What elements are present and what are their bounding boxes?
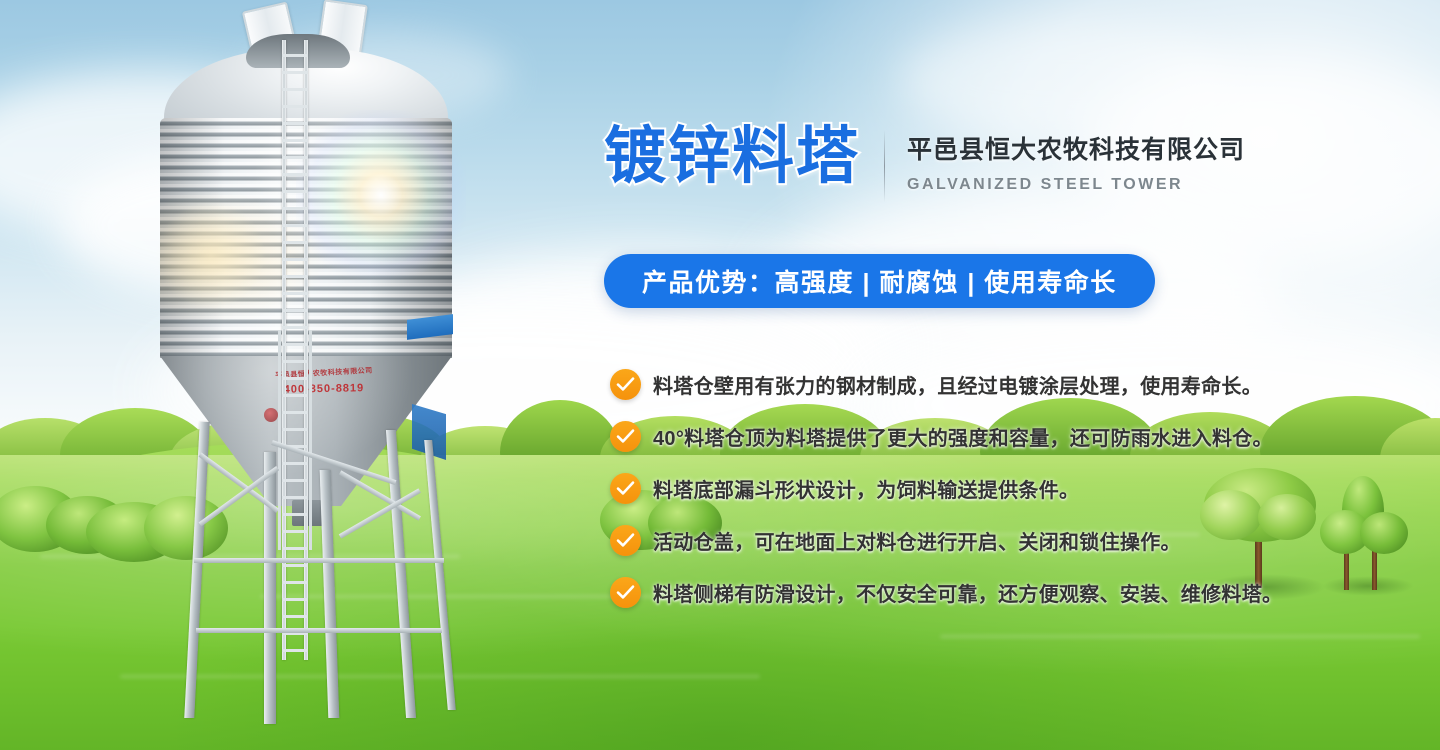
check-circle-icon <box>610 369 641 400</box>
headline-row: 镀锌料塔 平邑县恒大农牧科技有限公司 GALVANIZED STEEL TOWE… <box>604 126 1245 202</box>
check-circle-icon <box>610 421 641 452</box>
feature-item: 40°料塔仓顶为料塔提供了更大的强度和容量，还可防雨水进入料仓。 <box>610 410 1282 462</box>
feature-item: 料塔底部漏斗形状设计，为饲料输送提供条件。 <box>610 462 1282 514</box>
hero-banner: 平邑县恒大农牧科技有限公司 400-850-8819 镀锌料塔 <box>0 0 1440 750</box>
check-circle-icon <box>610 577 641 608</box>
feature-text: 料塔底部漏斗形状设计，为饲料输送提供条件。 <box>653 474 1079 503</box>
company-name-en: GALVANIZED STEEL TOWER <box>907 176 1245 194</box>
check-circle-icon <box>610 525 641 556</box>
banner-content: 镀锌料塔 平邑县恒大农牧科技有限公司 GALVANIZED STEEL TOWE… <box>0 0 1440 750</box>
title-divider <box>884 130 885 202</box>
feature-item: 活动仓盖，可在地面上对料仓进行开启、关闭和锁住操作。 <box>610 514 1282 566</box>
company-name: 平邑县恒大农牧科技有限公司 <box>907 130 1245 166</box>
advantage-label: 产品优势：高强度 | 耐腐蚀 | 使用寿命长 <box>642 263 1117 299</box>
feature-text: 料塔仓壁用有张力的钢材制成，且经过电镀涂层处理，使用寿命长。 <box>653 370 1262 399</box>
company-block: 平邑县恒大农牧科技有限公司 GALVANIZED STEEL TOWER <box>907 130 1245 194</box>
advantage-badge: 产品优势：高强度 | 耐腐蚀 | 使用寿命长 <box>604 254 1155 308</box>
feature-item: 料塔侧梯有防滑设计，不仅安全可靠，还方便观察、安装、维修料塔。 <box>610 566 1282 618</box>
feature-text: 40°料塔仓顶为料塔提供了更大的强度和容量，还可防雨水进入料仓。 <box>653 422 1273 451</box>
page-title: 镀锌料塔 <box>604 126 860 188</box>
feature-text: 料塔侧梯有防滑设计，不仅安全可靠，还方便观察、安装、维修料塔。 <box>653 578 1282 607</box>
check-circle-icon <box>610 473 641 504</box>
feature-item: 料塔仓壁用有张力的钢材制成，且经过电镀涂层处理，使用寿命长。 <box>610 358 1282 410</box>
feature-list: 料塔仓壁用有张力的钢材制成，且经过电镀涂层处理，使用寿命长。 40°料塔仓顶为料… <box>610 358 1282 618</box>
feature-text: 活动仓盖，可在地面上对料仓进行开启、关闭和锁住操作。 <box>653 526 1181 555</box>
